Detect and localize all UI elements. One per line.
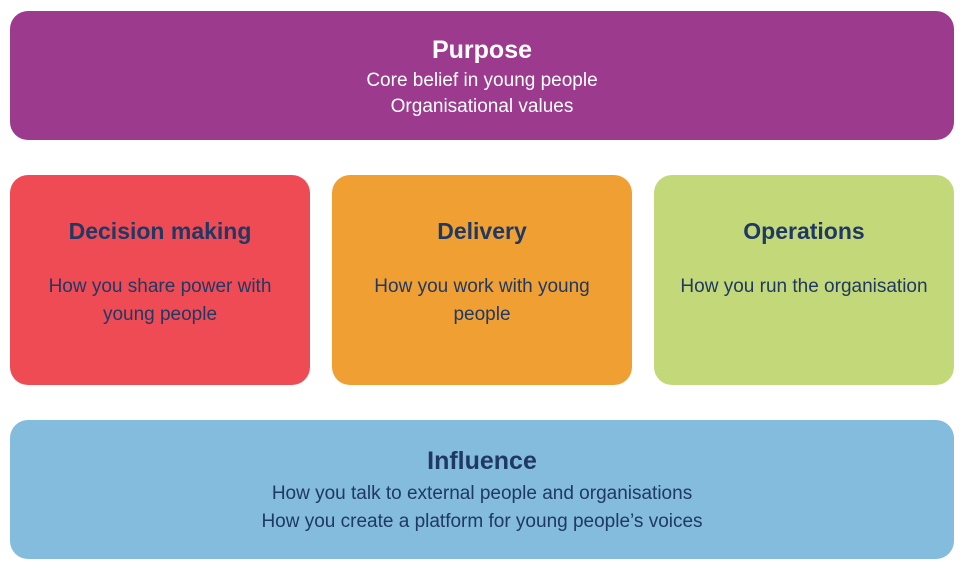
- purpose-card: Purpose Core belief in young people Orga…: [10, 11, 954, 140]
- influence-card: Influence How you talk to external peopl…: [10, 420, 954, 559]
- delivery-card: Delivery How you work with young people: [332, 175, 632, 385]
- operations-card: Operations How you run the organisation: [654, 175, 954, 385]
- operations-title: Operations: [743, 217, 864, 245]
- purpose-line-1: Core belief in young people: [366, 68, 597, 94]
- decision-making-body: How you share power with young people: [10, 273, 310, 329]
- decision-making-title: Decision making: [69, 217, 252, 245]
- delivery-title: Delivery: [437, 217, 527, 245]
- influence-line-2: How you create a platform for young peop…: [261, 508, 702, 536]
- framework-diagram: Purpose Core belief in young people Orga…: [0, 0, 964, 569]
- purpose-title: Purpose: [432, 35, 532, 65]
- decision-making-card: Decision making How you share power with…: [10, 175, 310, 385]
- influence-title: Influence: [427, 445, 537, 477]
- influence-line-1: How you talk to external people and orga…: [272, 480, 692, 508]
- delivery-body: How you work with young people: [332, 273, 632, 329]
- purpose-line-2: Organisational values: [391, 94, 574, 120]
- operations-body: How you run the organisation: [658, 273, 949, 301]
